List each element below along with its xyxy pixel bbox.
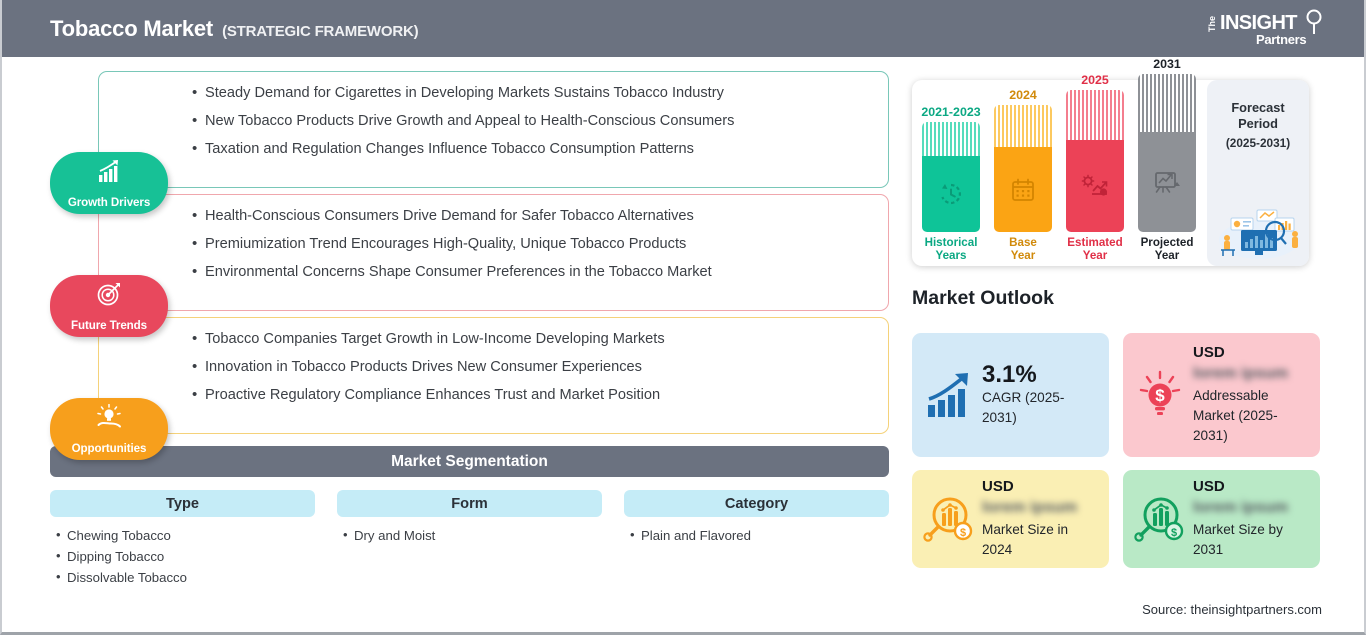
outlook-card-row: $ USD lorem ipsum Market Size in 2024 (912, 470, 1324, 568)
list-item: Steady Demand for Cigarettes in Developi… (205, 86, 888, 114)
badge-label: Opportunities (72, 443, 147, 455)
bar-year-label: 2021-2023 (921, 106, 980, 118)
column-items: Dry and Moist (337, 517, 602, 547)
segmentation-column-category: Category Plain and Flavored (624, 490, 889, 589)
list-item: Innovation in Tobacco Products Drives Ne… (205, 360, 888, 388)
bar-year-label: 2031 (1153, 58, 1181, 70)
list-item: Proactive Regulatory Compliance Enhances… (205, 388, 888, 416)
card-label: CAGR (2025-2031) (982, 388, 1098, 427)
timeline-bar-estimated: 2025 (1064, 74, 1126, 262)
card-market-size-2024: $ USD lorem ipsum Market Size in 2024 (912, 470, 1109, 568)
badge-opportunities[interactable]: Opportunities (50, 398, 168, 460)
svg-text:$: $ (1171, 527, 1177, 539)
bar-year-label: 2024 (1009, 89, 1037, 101)
market-segmentation-header: Market Segmentation (50, 446, 889, 477)
svg-text:INSIGHT: INSIGHT (1220, 12, 1297, 34)
target-dart-icon (96, 281, 122, 307)
list-item: Premiumization Trend Encourages High-Qua… (205, 237, 888, 265)
panel-future-trends: Health-Conscious Consumers Drive Demand … (98, 194, 889, 311)
bullet-list: Health-Conscious Consumers Drive Demand … (99, 195, 888, 293)
bar-chart-growth-icon (96, 158, 122, 184)
list-item: Dry and Moist (345, 526, 602, 547)
forecast-timeline-card: 2021-2023 HistoricalYears (912, 80, 1309, 266)
outlook-card-row: 3.1% CAGR (2025-2031) (912, 333, 1324, 457)
timeline-bar-base: 2024 (992, 89, 1054, 262)
page-header: Tobacco Market (STRATEGIC FRAMEWORK) The… (2, 0, 1364, 57)
list-item: Tobacco Companies Target Growth in Low-I… (205, 332, 888, 360)
badge-growth-drivers[interactable]: Growth Drivers (50, 152, 168, 214)
bar-caption: EstimatedYear (1067, 236, 1122, 262)
bar-year-label: 2025 (1081, 74, 1109, 86)
timeline-bar-historical: 2021-2023 HistoricalYears (920, 106, 982, 262)
timeline-bar-projected: 2031 (1136, 58, 1198, 262)
card-addressable-market: $ USD lorem ipsum Addressable Market (20… (1123, 333, 1320, 457)
svg-text:$: $ (1155, 386, 1165, 405)
lightbulb-dollar-icon: $ (1134, 369, 1186, 421)
badge-future-trends[interactable]: Future Trends (50, 275, 168, 337)
left-column: Steady Demand for Cigarettes in Developi… (2, 57, 907, 635)
bullet-list: Steady Demand for Cigarettes in Developi… (99, 72, 888, 170)
chart-screen-icon (1153, 169, 1181, 195)
insight-partners-logo: The INSIGHT Partners (1204, 8, 1334, 50)
list-item: Environmental Concerns Shape Consumer Pr… (205, 265, 888, 293)
forecast-label: ForecastPeriod (1231, 100, 1284, 133)
header-title-group: Tobacco Market (STRATEGIC FRAMEWORK) (50, 16, 418, 42)
card-body: 3.1% CAGR (2025-2031) (975, 362, 1098, 427)
list-item: New Tobacco Products Drive Growth and Ap… (205, 114, 888, 142)
forecast-period-box: ForecastPeriod (2025-2031) (1207, 80, 1309, 266)
data-analysis-illustration (1213, 204, 1305, 260)
card-label: Market Size in 2024 (982, 520, 1098, 559)
column-items: Chewing Tobacco Dipping Tobacco Dissolva… (50, 517, 315, 589)
svg-text:The: The (1207, 16, 1217, 32)
card-body: USD lorem ipsum Market Size by 2031 (1186, 478, 1309, 559)
segmentation-column-form: Form Dry and Moist (337, 490, 602, 589)
magnifier-chart-dollar-icon: $ (1134, 493, 1186, 545)
card-label: Market Size by 2031 (1193, 520, 1309, 559)
card-value: 3.1% (982, 362, 1098, 388)
page-subtitle: (STRATEGIC FRAMEWORK) (222, 23, 418, 40)
bar-caption: BaseYear (1009, 236, 1037, 262)
column-header: Type (50, 490, 315, 517)
column-header: Form (337, 490, 602, 517)
card-body: USD lorem ipsum Addressable Market (2025… (1186, 344, 1309, 445)
forecast-gear-icon (1081, 173, 1109, 199)
column-items: Plain and Flavored (624, 517, 889, 547)
infographic-page: Tobacco Market (STRATEGIC FRAMEWORK) The… (0, 0, 1366, 635)
bar-caption: HistoricalYears (925, 236, 978, 262)
source-attribution: Source: theinsightpartners.com (1142, 602, 1322, 617)
badge-label: Growth Drivers (68, 197, 150, 209)
currency-label: USD (1193, 478, 1309, 496)
bullet-list: Tobacco Companies Target Growth in Low-I… (99, 318, 888, 416)
card-market-size-2031: $ USD lorem ipsum Market Size by 2031 (1123, 470, 1320, 568)
lightbulb-hand-icon (96, 404, 122, 430)
clock-history-icon (938, 181, 964, 207)
svg-text:Partners: Partners (1256, 32, 1306, 47)
magnifier-chart-dollar-icon: $ (923, 493, 975, 545)
list-item: Dissolvable Tobacco (58, 568, 315, 589)
blurred-value: lorem ipsum (1193, 364, 1309, 384)
segmentation-columns: Type Chewing Tobacco Dipping Tobacco Dis… (50, 490, 889, 589)
card-label: Addressable Market (2025-2031) (1193, 386, 1309, 445)
outlook-cards: 3.1% CAGR (2025-2031) (912, 333, 1324, 581)
list-item: Chewing Tobacco (58, 526, 315, 547)
segmentation-column-type: Type Chewing Tobacco Dipping Tobacco Dis… (50, 490, 315, 589)
badge-label: Future Trends (71, 320, 147, 332)
list-item: Dipping Tobacco (58, 547, 315, 568)
panel-growth-drivers: Steady Demand for Cigarettes in Developi… (98, 71, 889, 188)
segmentation-title: Market Segmentation (391, 453, 548, 471)
svg-text:$: $ (960, 527, 966, 539)
currency-label: USD (1193, 344, 1309, 362)
right-column: 2021-2023 HistoricalYears (907, 57, 1364, 635)
bar-caption: ProjectedYear (1141, 236, 1194, 262)
list-item: Taxation and Regulation Changes Influenc… (205, 142, 888, 170)
column-header: Category (624, 490, 889, 517)
page-title: Tobacco Market (50, 16, 213, 42)
list-item: Health-Conscious Consumers Drive Demand … (205, 209, 888, 237)
timeline-bars: 2021-2023 HistoricalYears (912, 80, 1207, 266)
calendar-icon (1010, 177, 1036, 203)
list-item: Plain and Flavored (632, 526, 889, 547)
card-body: USD lorem ipsum Market Size in 2024 (975, 478, 1098, 559)
blurred-value: lorem ipsum (982, 498, 1098, 518)
blurred-value: lorem ipsum (1193, 498, 1309, 518)
market-outlook-title: Market Outlook (912, 287, 1054, 310)
currency-label: USD (982, 478, 1098, 496)
card-cagr: 3.1% CAGR (2025-2031) (912, 333, 1109, 457)
forecast-range: (2025-2031) (1226, 136, 1290, 150)
bar-chart-arrow-icon (923, 369, 975, 421)
panel-opportunities: Tobacco Companies Target Growth in Low-I… (98, 317, 889, 434)
